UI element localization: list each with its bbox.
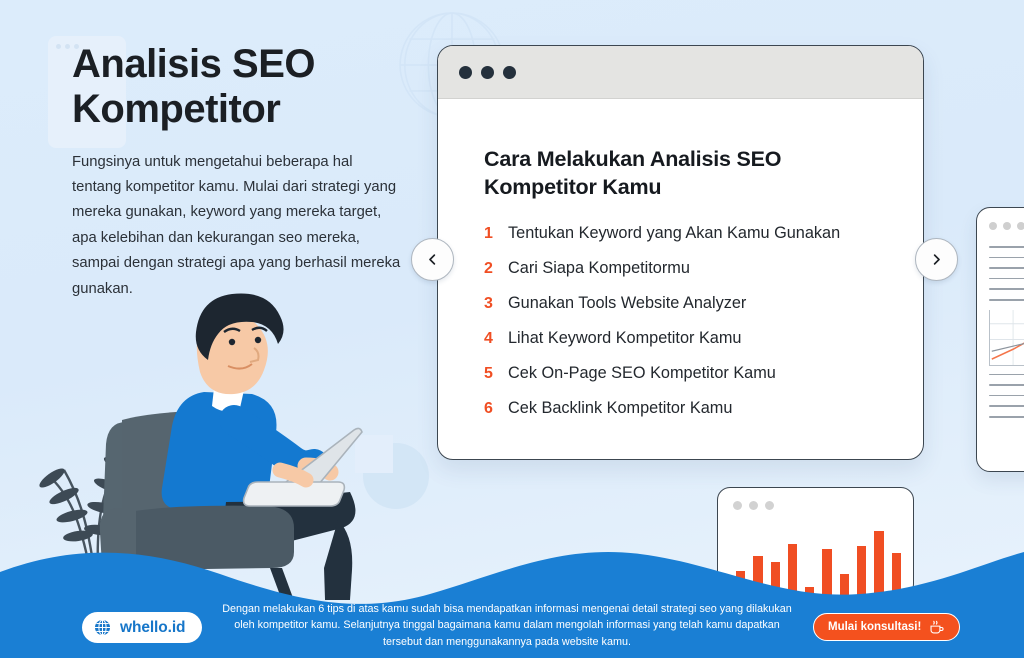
list-item: 4 Lihat Keyword Kompetitor Kamu xyxy=(484,329,883,349)
step-label: Tentukan Keyword yang Akan Kamu Gunakan xyxy=(508,224,840,244)
cta-label: Mulai konsultasi! xyxy=(828,621,921,633)
list-item: 3 Gunakan Tools Website Analyzer xyxy=(484,294,883,314)
step-label: Cek Backlink Kompetitor Kamu xyxy=(508,399,732,419)
step-number: 1 xyxy=(484,225,495,243)
logo-text: whello.id xyxy=(120,619,185,637)
step-label: Cek On-Page SEO Kompetitor Kamu xyxy=(508,364,776,384)
card-title: Cara Melakukan Analisis SEO Kompetitor K… xyxy=(484,145,883,202)
whello-logo[interactable]: whello.id xyxy=(82,612,202,643)
bar-chart-card xyxy=(717,487,914,597)
page-title: Analisis SEO Kompetitor xyxy=(72,42,402,132)
document-text-lines-top xyxy=(977,230,1024,301)
document-window-dots xyxy=(977,208,1024,230)
step-label: Lihat Keyword Kompetitor Kamu xyxy=(508,329,741,349)
bar-6 xyxy=(822,549,831,596)
step-number: 2 xyxy=(484,260,495,278)
infographic-canvas: Analisis SEO Kompetitor Fungsinya untuk … xyxy=(0,0,1024,658)
document-text-lines-bottom xyxy=(977,366,1024,418)
main-browser-card: Cara Melakukan Analisis SEO Kompetitor K… xyxy=(437,45,924,460)
intro-column: Analisis SEO Kompetitor Fungsinya untuk … xyxy=(72,42,402,302)
carousel-next-button[interactable] xyxy=(915,238,958,281)
footer-caption: Dengan melakukan 6 tips di atas kamu sud… xyxy=(222,601,792,650)
chevron-left-icon xyxy=(425,252,440,267)
start-consultation-button[interactable]: Mulai konsultasi! xyxy=(813,613,960,641)
list-item: 2 Cari Siapa Kompetitormu xyxy=(484,259,883,279)
bar-3 xyxy=(771,562,780,596)
list-item: 1 Tentukan Keyword yang Akan Kamu Gunaka… xyxy=(484,224,883,244)
person-with-laptop-illustration xyxy=(18,270,438,600)
step-number: 3 xyxy=(484,295,495,313)
step-number: 4 xyxy=(484,330,495,348)
bar-2 xyxy=(753,556,762,597)
chevron-right-icon xyxy=(929,252,944,267)
bar-7 xyxy=(840,574,849,596)
browser-content: Cara Melakukan Analisis SEO Kompetitor K… xyxy=(438,99,923,419)
coffee-cup-icon xyxy=(928,620,945,635)
globe-icon xyxy=(93,618,112,637)
browser-title-bar xyxy=(438,46,923,99)
window-dot-green xyxy=(503,66,516,79)
step-label: Cari Siapa Kompetitormu xyxy=(508,259,690,279)
list-item: 6 Cek Backlink Kompetitor Kamu xyxy=(484,399,883,419)
bar-chart-bars xyxy=(736,524,901,596)
bar-1 xyxy=(736,571,745,596)
bar-4 xyxy=(788,544,797,596)
bar-8 xyxy=(857,546,866,596)
step-number: 6 xyxy=(484,400,495,418)
steps-list: 1 Tentukan Keyword yang Akan Kamu Gunaka… xyxy=(484,224,883,419)
chart-window-dots xyxy=(718,488,913,510)
document-preview-card xyxy=(976,207,1024,472)
list-item: 5 Cek On-Page SEO Kompetitor Kamu xyxy=(484,364,883,384)
step-number: 5 xyxy=(484,365,495,383)
bar-5 xyxy=(805,587,814,596)
window-dot-red xyxy=(459,66,472,79)
window-dot-yellow xyxy=(481,66,494,79)
document-mini-line-chart xyxy=(989,310,1024,366)
bar-10 xyxy=(892,553,901,596)
step-label: Gunakan Tools Website Analyzer xyxy=(508,294,746,314)
bar-9 xyxy=(874,531,883,596)
